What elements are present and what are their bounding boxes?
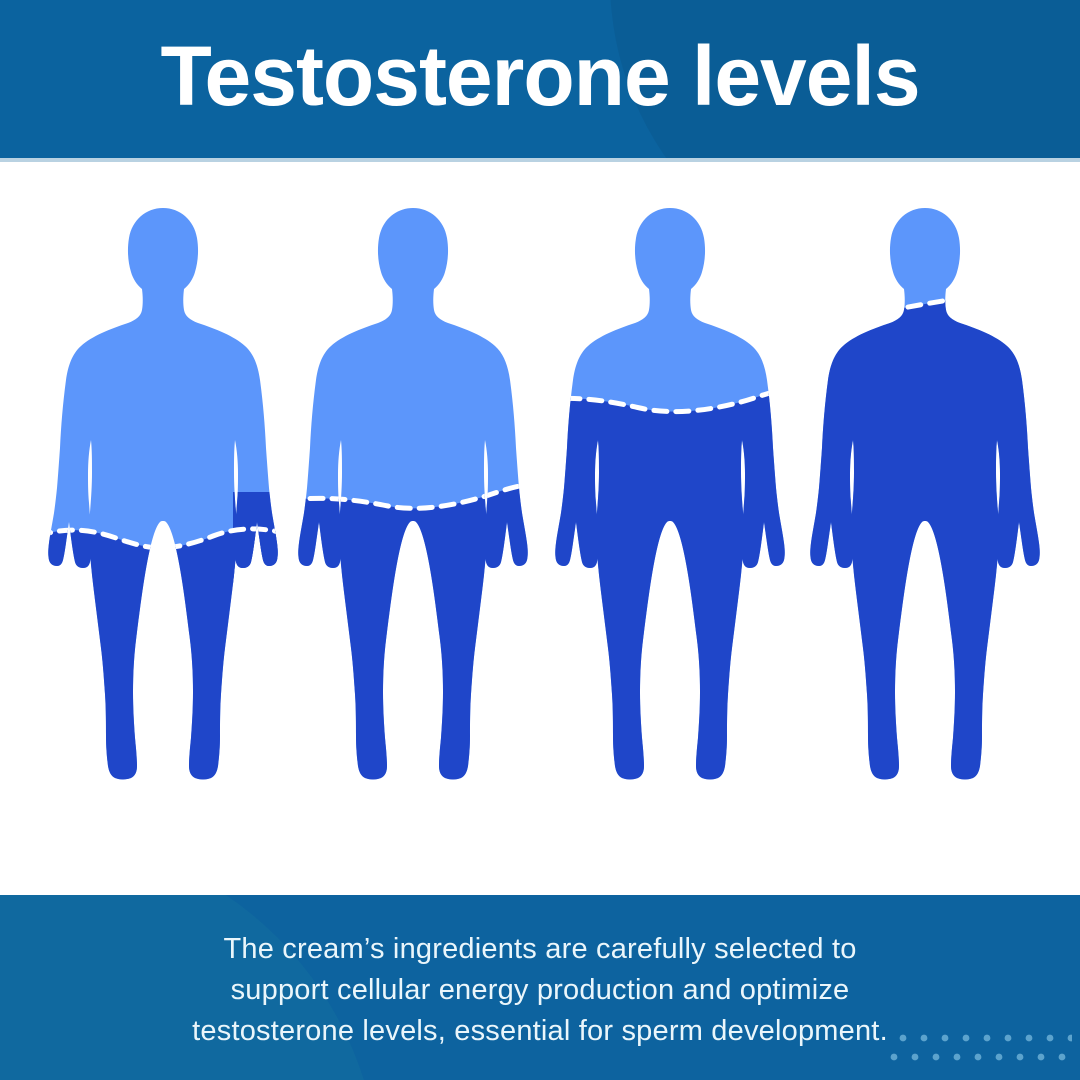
body-figure-week-1 <box>288 200 538 800</box>
page-title: Testosterone levels <box>0 0 1080 158</box>
footer-banner: The cream’s ingredients are carefully se… <box>0 895 1080 1080</box>
footer-caption-line-1: The cream’s ingredients are carefully se… <box>223 929 856 970</box>
footer-caption-line-3: testosterone levels, essential for sperm… <box>192 1011 888 1052</box>
figures-stage: WEEK 1 WEEK 2 WEEK 3 <box>0 162 1080 895</box>
body-figure-baseline <box>38 200 288 800</box>
body-figure-week-2 <box>545 200 795 800</box>
footer-caption-line-2: support cellular energy production and o… <box>231 970 850 1011</box>
dot-grid-decoration <box>882 1028 1072 1072</box>
body-figure-week-3 <box>800 200 1050 800</box>
infographic-poster: Testosterone levels <box>0 0 1080 1080</box>
